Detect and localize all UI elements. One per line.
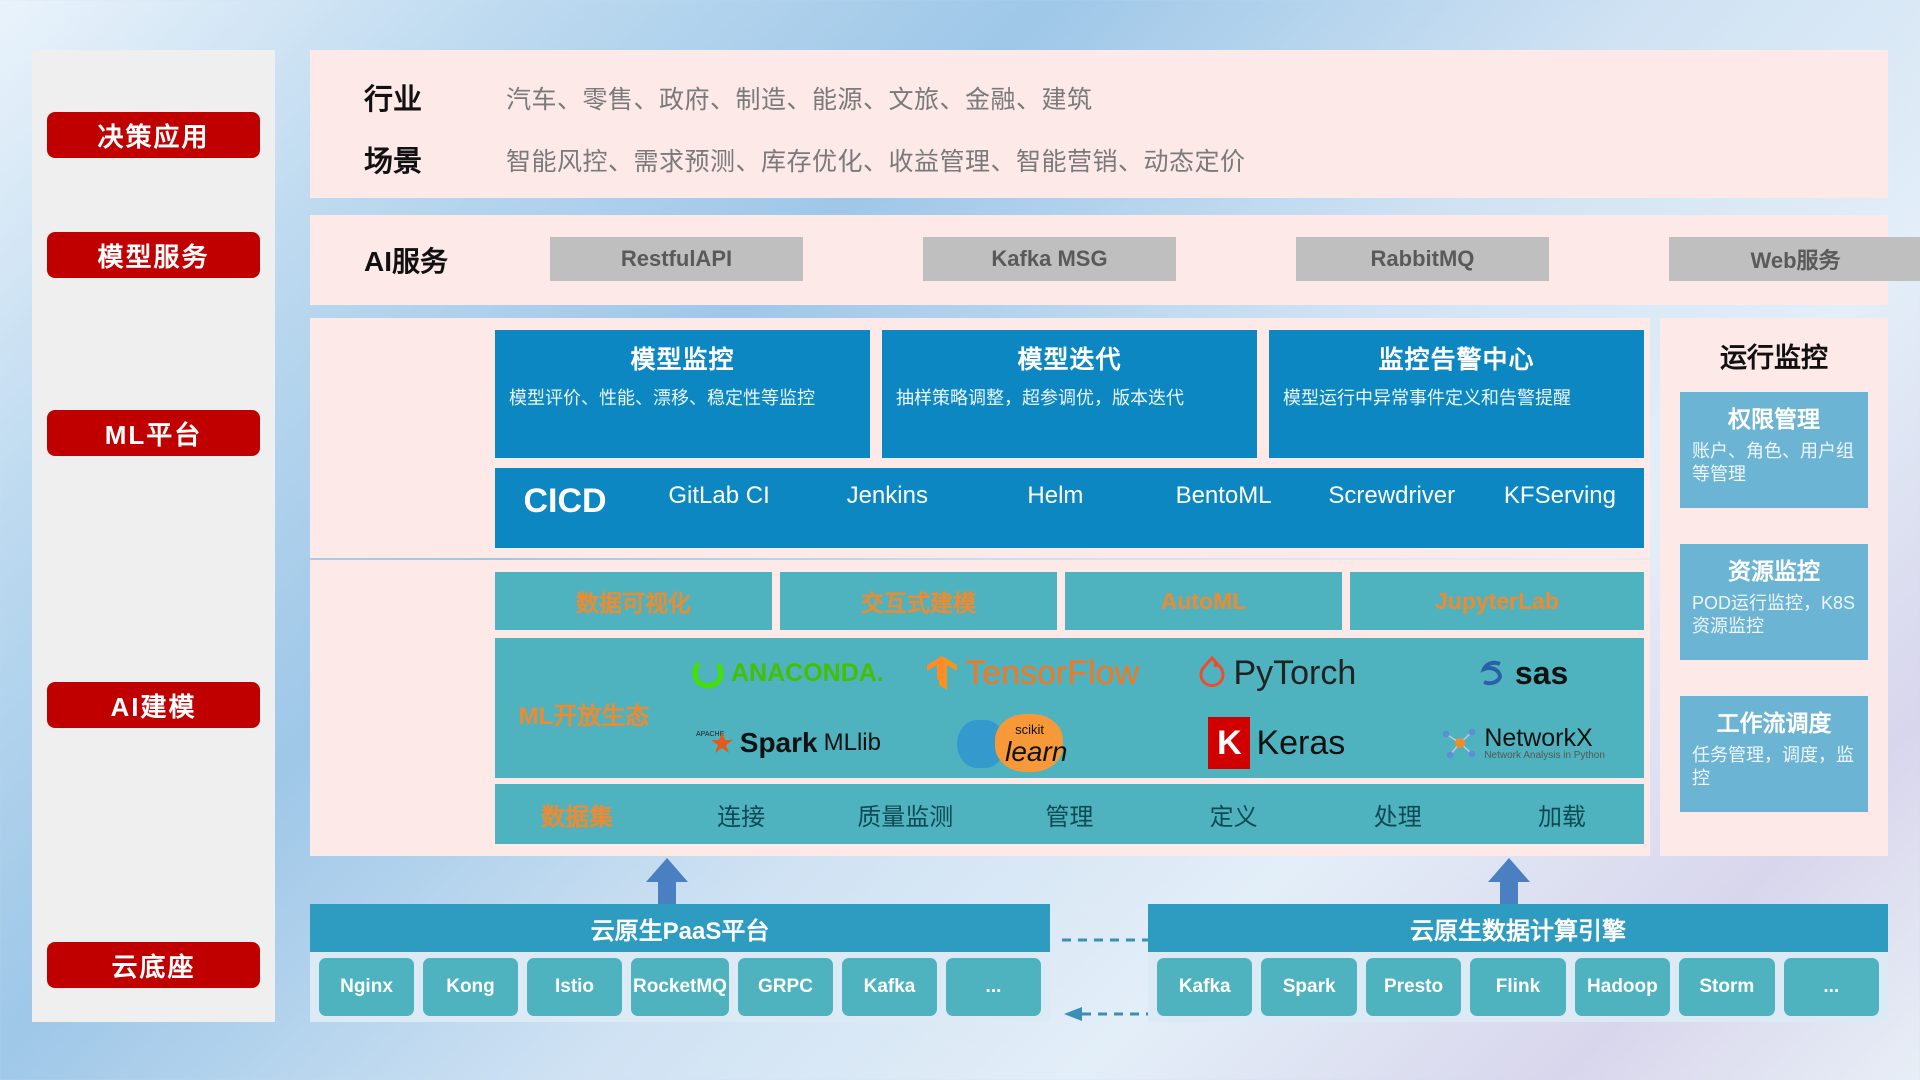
mllab-tool-automl[interactable]: AutoML — [1065, 572, 1342, 630]
paas-chip-kong[interactable]: Kong — [423, 958, 518, 1016]
cicd-item-jenkins[interactable]: Jenkins — [803, 482, 971, 510]
mllab-tool-jupyterlab[interactable]: JupyterLab — [1350, 572, 1644, 630]
logo-keras: K Keras — [1208, 717, 1345, 769]
industry-row-value: 汽车、零售、政府、制造、能源、文旅、金融、建筑 — [506, 80, 1093, 116]
engine-chip-spark[interactable]: Spark — [1261, 958, 1356, 1016]
logo-text: PyTorch — [1233, 654, 1356, 693]
foundation-paas-title: 云原生PaaS平台 — [310, 904, 1050, 952]
card-desc: 任务管理，调度，监控 — [1692, 744, 1856, 791]
ecosystem-label: ML开放生态 — [509, 696, 659, 731]
pytorch-icon — [1197, 656, 1227, 690]
card-desc: 模型运行中异常事件定义和告警提醒 — [1283, 386, 1630, 410]
rail-item-label: 云底座 — [111, 947, 195, 984]
logo-sas: sas — [1475, 655, 1568, 692]
tool-label: 交互式建模 — [861, 584, 976, 618]
logo-text: NetworkX — [1484, 726, 1605, 751]
rail-item-label: AI建模 — [110, 687, 196, 724]
mllab-ecosystem: ML开放生态 ANACONDA. — [495, 638, 1644, 778]
ai-service-chip-kafka-msg[interactable]: Kafka MSG — [923, 237, 1176, 281]
rail-item-model-service[interactable]: 模型服务 — [47, 232, 260, 278]
logo-text: TensorFlow — [965, 654, 1139, 693]
paas-chip-more[interactable]: ... — [946, 958, 1041, 1016]
mllab-tool-interactive-modeling[interactable]: 交互式建模 — [780, 572, 1057, 630]
rail-item-label: 模型服务 — [97, 237, 209, 274]
card-desc: POD运行监控，K8S资源监控 — [1692, 592, 1856, 639]
logo-networkx: NetworkX Network Analysis in Python — [1438, 724, 1605, 762]
dataset-item-connect[interactable]: 连接 — [659, 797, 823, 832]
ai-service-chip-restfulapi[interactable]: RestfulAPI — [550, 237, 803, 281]
dataset-item-management[interactable]: 管理 — [987, 797, 1151, 832]
paas-chip-rocketmq[interactable]: RocketMQ — [631, 958, 729, 1016]
scenario-row-value: 智能风控、需求预测、库存优化、收益管理、智能营销、动态定价 — [506, 142, 1246, 178]
cicd-item-helm[interactable]: Helm — [971, 482, 1139, 510]
industry-row-label: 行业 — [364, 76, 464, 118]
logo-text: learn — [1005, 736, 1067, 768]
keras-mark-icon: K — [1208, 717, 1250, 769]
chip-label: Kafka MSG — [991, 246, 1107, 272]
logo-text: Keras — [1256, 724, 1345, 763]
engine-chip-hadoop[interactable]: Hadoop — [1575, 958, 1670, 1016]
card-desc: 账户、角色、用户组等管理 — [1692, 440, 1856, 487]
engine-chip-more[interactable]: ... — [1784, 958, 1879, 1016]
paas-chip-grpc[interactable]: GRPC — [738, 958, 833, 1016]
tool-label: JupyterLab — [1435, 588, 1559, 615]
tensorflow-icon — [925, 654, 959, 692]
mlops-band: MLOps 模型监控 模型评价、性能、漂移、稳定性等监控 模型迭代 抽样策略调整… — [310, 318, 1650, 558]
logo-subtext: MLlib — [824, 729, 881, 757]
cicd-label: CICD — [495, 482, 635, 521]
mlops-card-model-monitoring[interactable]: 模型监控 模型评价、性能、漂移、稳定性等监控 — [495, 330, 870, 458]
logo-text: ANACONDA. — [731, 659, 884, 688]
mlops-card-model-iteration[interactable]: 模型迭代 抽样策略调整，超参调优，版本迭代 — [882, 330, 1257, 458]
dataset-item-processing[interactable]: 处理 — [1316, 797, 1480, 832]
monitoring-title: 运行监控 — [1660, 336, 1888, 375]
ai-service-chip-rabbitmq[interactable]: RabbitMQ — [1296, 237, 1549, 281]
card-title: 模型迭代 — [896, 340, 1243, 376]
logo-tensorflow: TensorFlow — [925, 654, 1139, 693]
rail-item-cloud-base[interactable]: 云底座 — [47, 942, 260, 988]
cicd-item-bentoml[interactable]: BentoML — [1140, 482, 1308, 510]
engine-chip-presto[interactable]: Presto — [1366, 958, 1461, 1016]
monitoring-card-workflow[interactable]: 工作流调度 任务管理，调度，监控 — [1680, 696, 1868, 812]
paas-chip-kafka[interactable]: Kafka — [842, 958, 937, 1016]
chip-label: RestfulAPI — [621, 246, 732, 272]
rail-item-decision[interactable]: 决策应用 — [47, 112, 260, 158]
ai-modeling-band: 神州数码 ML LAB 数据可视化 交互式建模 AutoML JupyterLa… — [310, 560, 1650, 856]
dataset-item-definition[interactable]: 定义 — [1152, 797, 1316, 832]
card-desc: 模型评价、性能、漂移、稳定性等监控 — [509, 386, 856, 410]
paas-chip-nginx[interactable]: Nginx — [319, 958, 414, 1016]
logo-spark-mllib: APACHE Spark MLlib — [694, 726, 881, 760]
cicd-row: CICD GitLab CI Jenkins Helm BentoML Scre… — [495, 468, 1644, 548]
spark-icon: APACHE — [694, 726, 734, 760]
mllab-tool-data-visualization[interactable]: 数据可视化 — [495, 572, 772, 630]
ai-service-chip-web-service[interactable]: Web服务 — [1669, 237, 1920, 281]
foundation-data-engine-title: 云原生数据计算引擎 — [1148, 904, 1888, 952]
ai-service-label: AI服务 — [364, 240, 448, 280]
logo-text: sas — [1515, 655, 1568, 692]
dataset-item-quality-monitoring[interactable]: 质量监测 — [823, 797, 987, 832]
anaconda-icon — [691, 656, 725, 690]
logo-subtext: scikit — [1015, 722, 1044, 737]
dataset-item-loading[interactable]: 加载 — [1480, 797, 1644, 832]
tool-label: 数据可视化 — [576, 584, 691, 618]
card-title: 模型监控 — [509, 340, 856, 376]
monitoring-panel: 运行监控 权限管理 账户、角色、用户组等管理 资源监控 POD运行监控，K8S资… — [1660, 318, 1888, 856]
foundation-data-engine: 云原生数据计算引擎 Kafka Spark Presto Flink Hadoo… — [1148, 904, 1888, 1022]
monitoring-card-permission[interactable]: 权限管理 账户、角色、用户组等管理 — [1680, 392, 1868, 508]
logo-scikit-learn: scikit learn — [957, 712, 1107, 774]
rail-item-ai-modeling[interactable]: AI建模 — [47, 682, 260, 728]
card-title: 工作流调度 — [1692, 704, 1856, 738]
mllab-dataset-row: 数据集 连接 质量监测 管理 定义 处理 加载 — [495, 784, 1644, 844]
logo-subtext: Network Analysis in Python — [1484, 751, 1605, 761]
card-title: 监控告警中心 — [1283, 340, 1630, 376]
cicd-item-kfserving[interactable]: KFServing — [1476, 482, 1644, 510]
decision-application-band: 行业 汽车、零售、政府、制造、能源、文旅、金融、建筑 场景 智能风控、需求预测、… — [310, 50, 1888, 198]
logo-pytorch: PyTorch — [1197, 654, 1356, 693]
chip-label: RabbitMQ — [1371, 246, 1475, 272]
rail-item-label: 决策应用 — [97, 117, 209, 154]
foundation-paas-chips: Nginx Kong Istio RocketMQ GRPC Kafka ... — [310, 952, 1050, 1022]
stack-layer-rail: 决策应用 模型服务 ML平台 AI建模 云底座 — [32, 50, 275, 1022]
engine-chip-kafka[interactable]: Kafka — [1157, 958, 1252, 1016]
engine-chip-flink[interactable]: Flink — [1470, 958, 1565, 1016]
mlops-card-alert-center[interactable]: 监控告警中心 模型运行中异常事件定义和告警提醒 — [1269, 330, 1644, 458]
card-title: 权限管理 — [1692, 400, 1856, 434]
cicd-item-screwdriver[interactable]: Screwdriver — [1308, 482, 1476, 510]
sas-icon — [1475, 656, 1509, 690]
rail-item-label: ML平台 — [105, 415, 203, 452]
card-desc: 抽样策略调整，超参调优，版本迭代 — [896, 386, 1243, 410]
monitoring-card-resource[interactable]: 资源监控 POD运行监控，K8S资源监控 — [1680, 544, 1868, 660]
tool-label: AutoML — [1161, 588, 1247, 615]
foundation-paas: 云原生PaaS平台 Nginx Kong Istio RocketMQ GRPC… — [310, 904, 1050, 1022]
dataset-label: 数据集 — [495, 797, 659, 832]
logo-text: Spark — [740, 727, 818, 759]
networkx-icon — [1438, 724, 1478, 762]
paas-chip-istio[interactable]: Istio — [527, 958, 622, 1016]
rail-item-ml-platform[interactable]: ML平台 — [47, 410, 260, 456]
engine-chip-storm[interactable]: Storm — [1679, 958, 1774, 1016]
card-title: 资源监控 — [1692, 552, 1856, 586]
chip-label: Web服务 — [1750, 243, 1840, 275]
cicd-item-gitlab-ci[interactable]: GitLab CI — [635, 482, 803, 510]
foundation-data-engine-chips: Kafka Spark Presto Flink Hadoop Storm ..… — [1148, 952, 1888, 1022]
logo-anaconda: ANACONDA. — [691, 656, 884, 690]
ai-service-band: AI服务 RestfulAPI Kafka MSG RabbitMQ Web服务 — [310, 215, 1888, 305]
scenario-row-label: 场景 — [364, 138, 464, 180]
